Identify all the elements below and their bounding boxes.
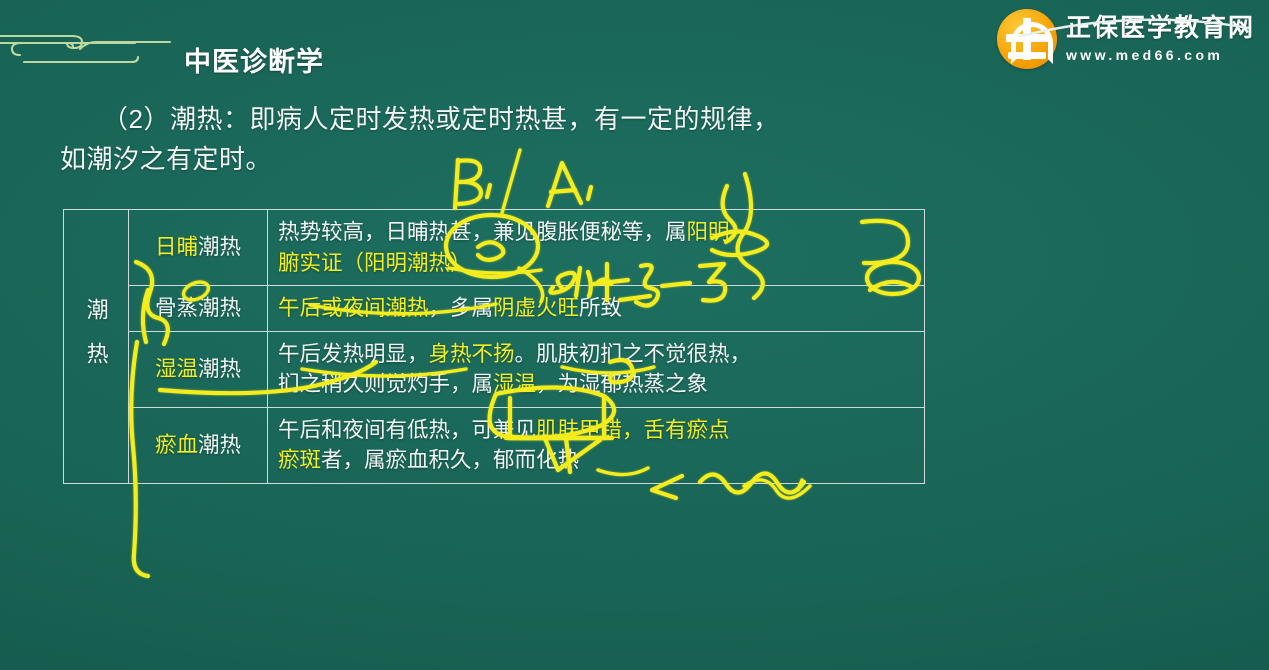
table-row: 骨蒸潮热 午后或夜间潮热，多属阴虚火旺所致	[64, 286, 925, 332]
desc-line-0-0: 热势较高，日晡热甚，兼见腹胀便秘等，属阳明	[278, 217, 914, 248]
desc-text: 者，属瘀血积久，郁而化热	[321, 448, 579, 472]
row-name-rest-1: 骨蒸潮热	[155, 296, 241, 320]
desc-highlight: 午后或夜间潮热	[278, 296, 429, 320]
desc-text: ，兼见腹胀便秘等，属	[472, 220, 687, 244]
cloud-ornament-icon	[0, 22, 180, 74]
row-name-cell-1: 骨蒸潮热	[129, 286, 268, 332]
lesson-paragraph: （2）潮热：即病人定时发热或定时热甚，有一定的规律， 如潮汐之有定时。	[60, 100, 960, 179]
desc-text: 所致	[579, 296, 622, 320]
row-name-cell-0: 日晡潮热	[129, 210, 268, 286]
medical-cross-circle-icon	[997, 9, 1057, 69]
desc-line-0-1: 腑实证（阳明潮热）	[278, 248, 914, 279]
brand-logo: 正保医学教育网 www.med66.com	[997, 9, 1255, 69]
row-name-hl-0: 日晡	[155, 235, 198, 259]
desc-text: 午后发热明显，	[278, 342, 429, 366]
desc-text: 日晡热甚	[386, 220, 472, 244]
desc-text: 热势较高，	[278, 220, 386, 244]
desc-text: 午后和夜间有低热，可兼见	[278, 418, 536, 442]
table-row: 瘀血潮热 午后和夜间有低热，可兼见肌肤甲错，舌有瘀点 瘀斑者，属瘀血积久，郁而化…	[64, 407, 925, 483]
row-name-cell-3: 瘀血潮热	[129, 407, 268, 483]
desc-highlight: 阴虚火旺	[493, 296, 579, 320]
desc-line-1-0: 午后或夜间潮热，多属阴虚火旺所致	[278, 293, 914, 324]
desc-highlight: 肌肤甲错，舌有瘀点	[536, 418, 730, 442]
row-name-rest-0: 潮热	[198, 235, 241, 259]
desc-line-3-1: 瘀斑者，属瘀血积久，郁而化热	[278, 445, 914, 476]
table-row: 湿温潮热 午后发热明显，身热不扬。肌肤初扪之不觉很热， 扪之稍久则觉灼手，属湿温…	[64, 331, 925, 407]
desc-highlight: 瘀斑	[278, 448, 321, 472]
row-name-cell-2: 湿温潮热	[129, 331, 268, 407]
table-row: 潮热 日晡潮热 热势较高，日晡热甚，兼见腹胀便秘等，属阳明 腑实证（阳明潮热）	[64, 210, 925, 286]
desc-line-2-0: 午后发热明显，身热不扬。肌肤初扪之不觉很热，	[278, 339, 914, 370]
desc-highlight: 阳明	[687, 220, 730, 244]
table-body: 潮热 日晡潮热 热势较高，日晡热甚，兼见腹胀便秘等，属阳明 腑实证（阳明潮热） …	[64, 210, 925, 484]
desc-text: ，为湿郁热蒸之象	[536, 372, 708, 396]
desc-highlight: 身热不扬	[429, 342, 515, 366]
row-desc-cell-1: 午后或夜间潮热，多属阴虚火旺所致	[268, 286, 925, 332]
desc-text: 扪之稍久则觉灼手，属	[278, 372, 493, 396]
desc-highlight: 腑实证（阳明潮热）	[278, 251, 472, 275]
paragraph-line-1: （2）潮热：即病人定时发热或定时热甚，有一定的规律，	[102, 104, 779, 134]
row-desc-cell-3: 午后和夜间有低热，可兼见肌肤甲错，舌有瘀点 瘀斑者，属瘀血积久，郁而化热	[268, 407, 925, 483]
brand-name-cn: 正保医学教育网	[1066, 16, 1255, 41]
group-label-text: 潮热	[80, 298, 111, 386]
row-name-hl-3: 瘀血	[155, 433, 198, 457]
row-name-hl-2: 湿温	[155, 357, 198, 381]
tidal-fever-table: 潮热 日晡潮热 热势较高，日晡热甚，兼见腹胀便秘等，属阳明 腑实证（阳明潮热） …	[63, 209, 925, 484]
row-name-rest-3: 潮热	[198, 433, 241, 457]
desc-highlight: 湿温	[493, 372, 536, 396]
desc-text: ，多属	[429, 296, 494, 320]
row-desc-cell-2: 午后发热明显，身热不扬。肌肤初扪之不觉很热， 扪之稍久则觉灼手，属湿温，为湿郁热…	[268, 331, 925, 407]
desc-line-3-0: 午后和夜间有低热，可兼见肌肤甲错，舌有瘀点	[278, 415, 914, 446]
row-group-label: 潮热	[64, 210, 129, 484]
row-desc-cell-0: 热势较高，日晡热甚，兼见腹胀便秘等，属阳明 腑实证（阳明潮热）	[268, 210, 925, 286]
slide-canvas: 中医诊断学 正保医学教育网 www.med66.com （2）潮热：即病人定时发…	[0, 0, 1269, 670]
row-name-rest-2: 潮热	[198, 357, 241, 381]
desc-text: 。肌肤初扪之不觉很热，	[515, 342, 752, 366]
page-title: 中医诊断学	[184, 40, 324, 79]
desc-line-2-1: 扪之稍久则觉灼手，属湿温，为湿郁热蒸之象	[278, 369, 914, 400]
paragraph-line-2: 如潮汐之有定时。	[60, 144, 272, 174]
brand-url: www.med66.com	[1066, 48, 1255, 62]
